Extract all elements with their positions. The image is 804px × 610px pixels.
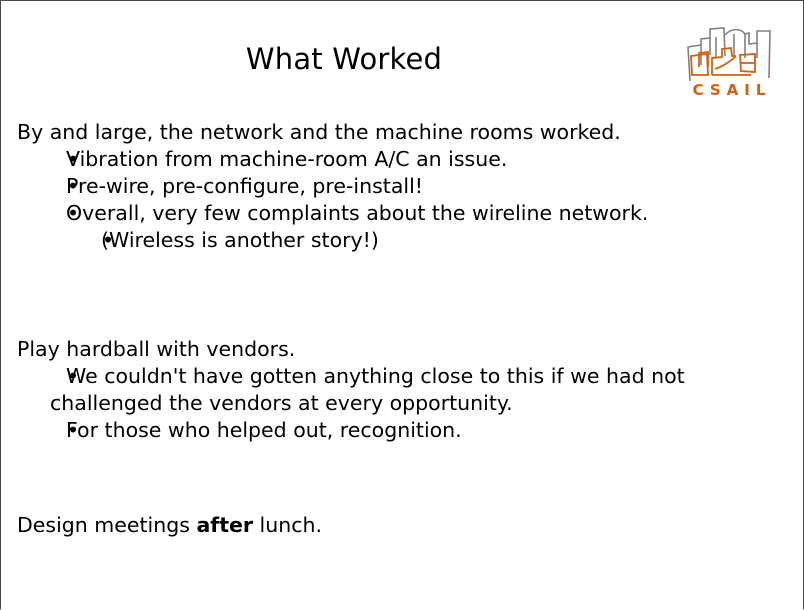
block3-text-emphasis: after (196, 513, 253, 537)
page-title: What Worked (1, 42, 687, 76)
block3-text-post: lunch. (253, 513, 322, 537)
list-item: • Overall, very few complaints about the… (17, 200, 717, 227)
csail-logo: CSAIL (679, 25, 779, 105)
block3-text-pre: Design meetings (17, 513, 196, 537)
slide-body: By and large, the network and the machin… (17, 119, 717, 539)
bullet-icon: • (51, 173, 79, 200)
slide: What Worked CSAI (0, 0, 804, 610)
block2-lead: Play hardball with vendors. (17, 336, 717, 363)
list-item-label: Vibration from machine-room A/C an issue… (66, 147, 507, 171)
bullet-icon: • (51, 363, 79, 390)
bullet-icon: • (51, 200, 79, 227)
list-item: • For those who helped out, recognition. (17, 417, 717, 444)
list-item-label: For those who helped out, recognition. (66, 418, 462, 442)
content-block-3: Design meetings after lunch. (17, 512, 717, 539)
content-block-2: Play hardball with vendors. • We couldn'… (17, 336, 717, 444)
spacer (17, 444, 717, 512)
bullet-icon: • (51, 417, 79, 444)
bullet-icon: • (86, 227, 114, 254)
list-item-label: Overall, very few complaints about the w… (66, 201, 648, 225)
csail-wordmark: CSAIL (679, 81, 779, 99)
list-item: • We couldn't have gotten anything close… (17, 363, 717, 417)
list-item-sub: • (Wireless is another story!) (17, 227, 717, 254)
list-item: • Vibration from machine-room A/C an iss… (17, 146, 717, 173)
list-item-label: (Wireless is another story!) (101, 228, 379, 252)
content-block-1: By and large, the network and the machin… (17, 119, 717, 254)
csail-skyline-icon (679, 25, 779, 83)
bullet-icon: • (51, 146, 79, 173)
spacer (17, 254, 717, 336)
block1-lead: By and large, the network and the machin… (17, 119, 717, 146)
list-item: • Pre-wire, pre-configure, pre-install! (17, 173, 717, 200)
list-item-label: Pre-wire, pre-configure, pre-install! (66, 174, 423, 198)
list-item-label: We couldn't have gotten anything close t… (50, 364, 685, 415)
